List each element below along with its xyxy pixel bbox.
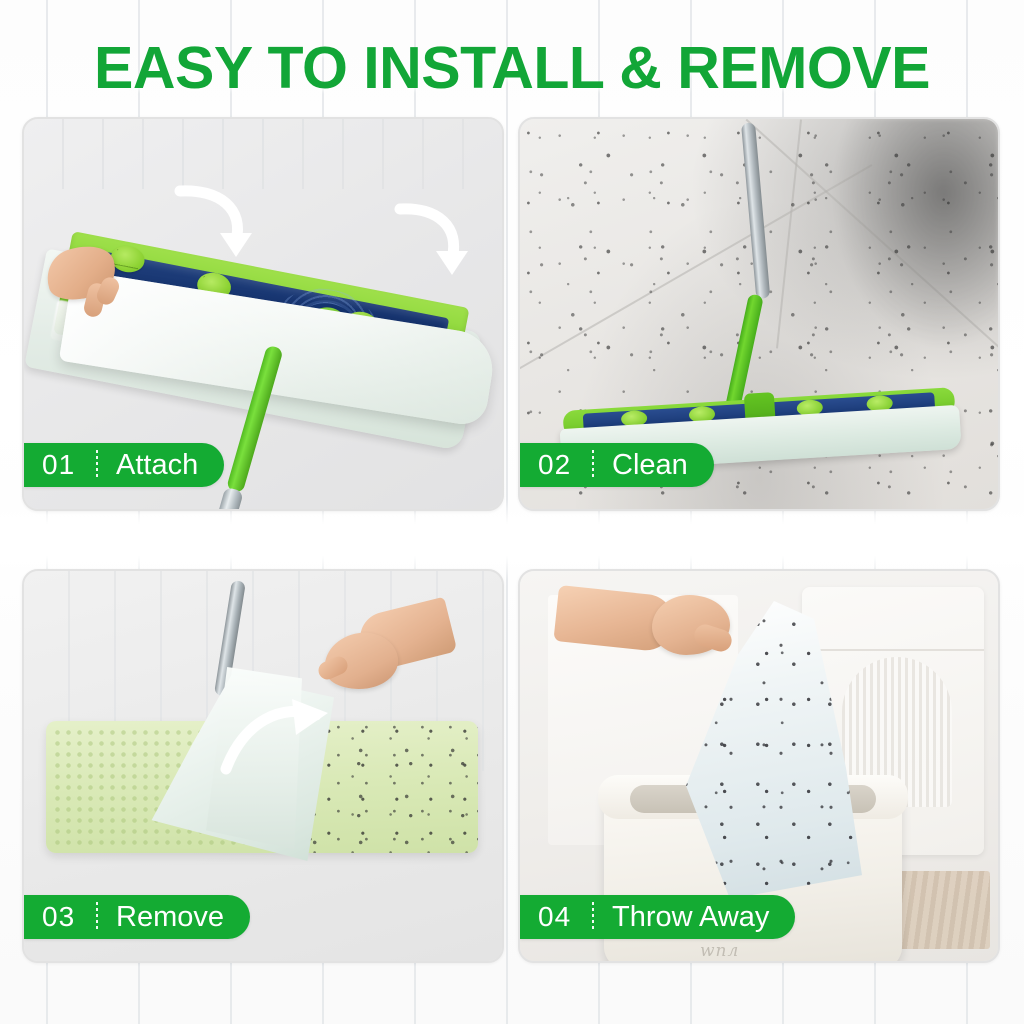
mop-handle-silver [192, 487, 243, 509]
step-badge-03[interactable]: 03 Remove [24, 895, 250, 939]
hand-dropping-cloth [556, 585, 746, 677]
hand-peeling-cloth [316, 607, 442, 707]
step-card-03[interactable]: 03 Remove [22, 569, 504, 963]
step-label: Remove [116, 901, 224, 934]
step-card-02[interactable]: 02 Clean [518, 117, 1000, 511]
bin-emboss-text: wnл [700, 941, 739, 961]
step-card-01[interactable]: 01 Attach [22, 117, 504, 511]
badge-divider [592, 450, 594, 480]
step-badge-04[interactable]: 04 Throw Away [520, 895, 795, 939]
step-number: 01 [42, 449, 90, 481]
steps-grid: 01 Attach [22, 117, 1004, 973]
step-label: Throw Away [612, 901, 769, 934]
wall-slats [24, 119, 502, 189]
hand-holding-cloth [46, 247, 132, 319]
cabinet-seam [802, 649, 984, 651]
floor-dirt-patch [818, 119, 998, 369]
step-number: 04 [538, 901, 586, 933]
step-card-04[interactable]: wnл 04 Throw Away [518, 569, 1000, 963]
badge-divider [592, 902, 594, 932]
step-badge-02[interactable]: 02 Clean [520, 443, 714, 487]
step-number: 02 [538, 449, 586, 481]
step-label: Clean [612, 449, 688, 482]
badge-divider [96, 450, 98, 480]
step-number: 03 [42, 901, 90, 933]
step-label: Attach [116, 449, 198, 482]
step-badge-01[interactable]: 01 Attach [24, 443, 224, 487]
badge-divider [96, 902, 98, 932]
page-title: EASY TO INSTALL & REMOVE [0, 34, 1024, 102]
